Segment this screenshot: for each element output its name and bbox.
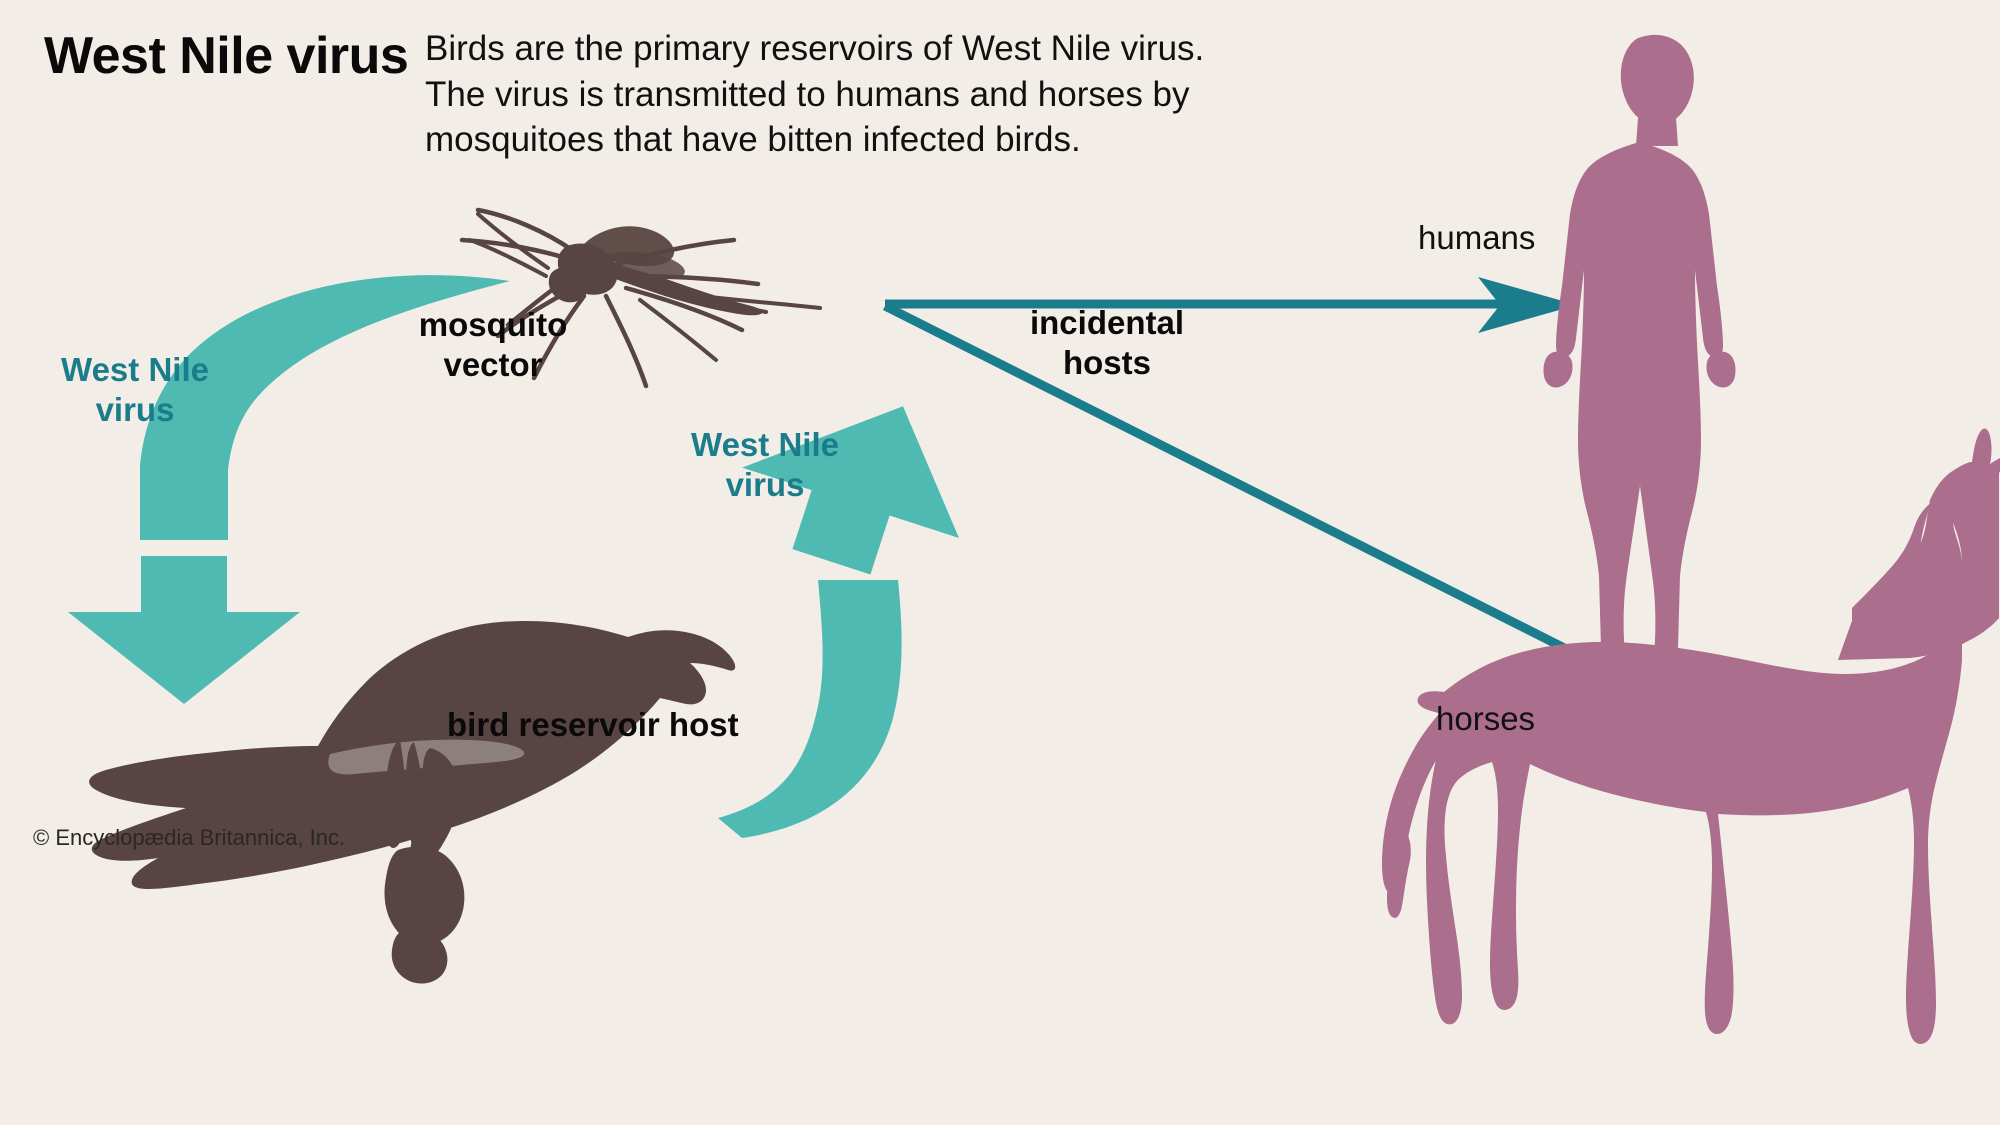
label-mosquito-vector: mosquito vector [408,305,578,386]
label-west-nile-virus-center: West Nile virus [660,425,870,504]
label-west-nile-virus-left: West Nile virus [30,350,240,429]
copyright-notice: © Encyclopædia Britannica, Inc. [33,825,345,851]
caption-text: Birds are the primary reservoirs of West… [425,26,1204,163]
diagram-graphics [0,0,2000,1125]
arrowhead-down [68,556,300,704]
label-bird-reservoir-host: bird reservoir host [447,705,739,745]
label-horses: horses [1436,700,1535,739]
diagram-canvas: West Nile virus Birds are the primary re… [0,0,2000,1125]
label-humans: humans [1418,219,1535,258]
label-incidental-hosts: incidental hosts [1022,303,1192,384]
page-title: West Nile virus [44,26,408,87]
arrow-mosquito-to-humans [885,277,1577,333]
